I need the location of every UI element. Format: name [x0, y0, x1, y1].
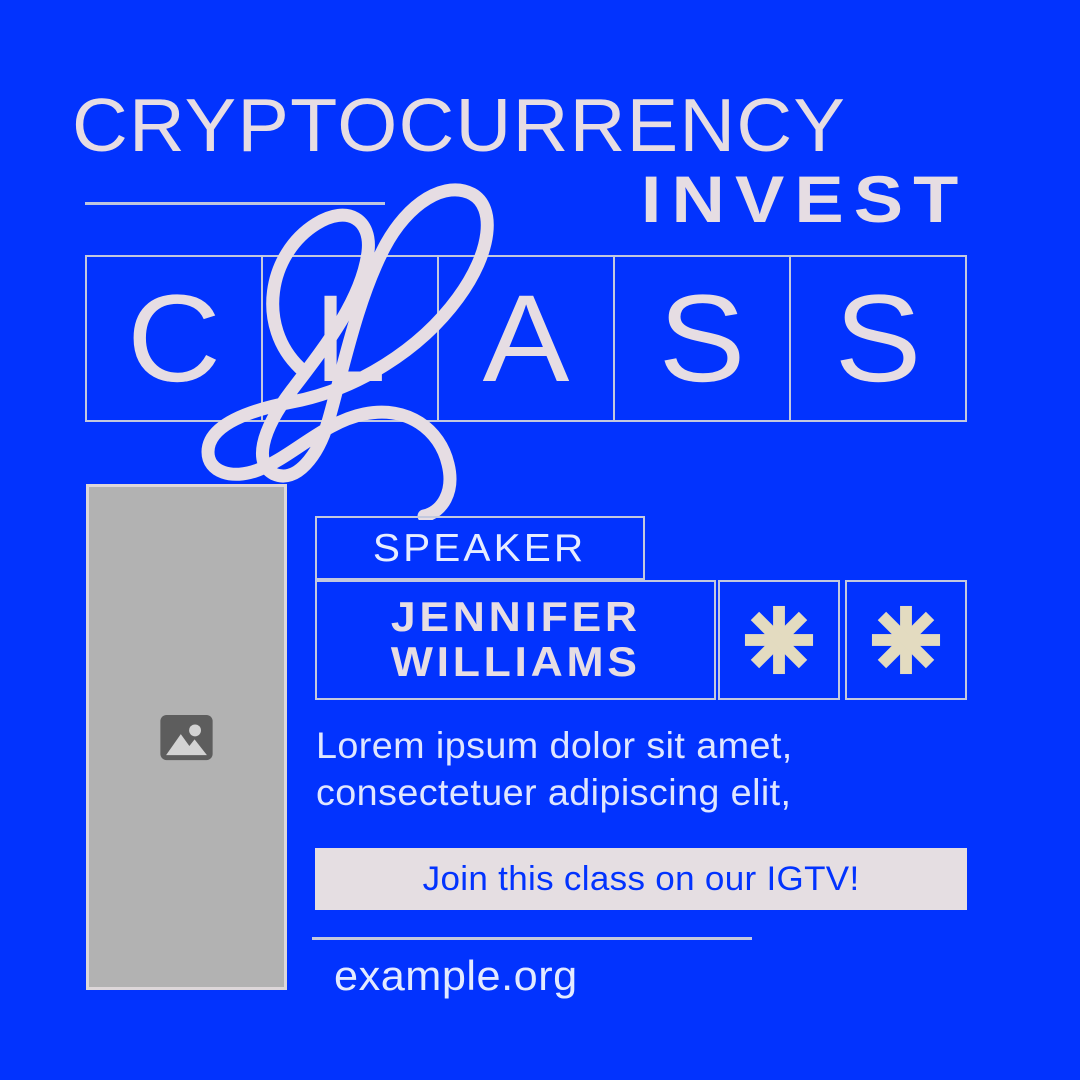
class-cell-2: L: [263, 257, 439, 420]
speaker-label-box: SPEAKER: [315, 516, 645, 580]
description-text: Lorem ipsum dolor sit amet, consectetuer…: [316, 722, 989, 817]
class-cell-5: S: [791, 257, 965, 420]
class-cell-3: A: [439, 257, 615, 420]
page-title: CRYPTOCURRENCY: [72, 88, 1011, 163]
decor-star-box-1: [718, 580, 840, 700]
cta-banner[interactable]: Join this class on our IGTV!: [315, 848, 967, 910]
image-placeholder[interactable]: [86, 484, 287, 990]
description-line-2: consectetuer adipiscing elit,: [316, 769, 989, 816]
speaker-name-line2: WILLIAMS: [391, 640, 641, 685]
speaker-name-box: JENNIFER WILLIAMS: [315, 580, 716, 700]
headline-invest: INVEST: [641, 166, 968, 232]
cta-label: Join this class on our IGTV!: [423, 862, 860, 896]
decor-star-box-2: [845, 580, 967, 700]
speaker-label: SPEAKER: [373, 529, 586, 568]
speaker-name-line1: JENNIFER: [391, 595, 641, 640]
class-cell-1: C: [87, 257, 263, 420]
class-letter-1: C: [83, 277, 266, 401]
asterisk-star-icon: [742, 603, 816, 677]
class-letter-4: S: [611, 277, 794, 401]
footer-divider-rule: [312, 937, 752, 940]
class-cell-4: S: [615, 257, 791, 420]
class-letter-5: S: [787, 277, 970, 401]
class-letter-2: L: [259, 277, 442, 401]
website-url[interactable]: example.org: [334, 953, 578, 999]
class-letter-3: A: [435, 277, 618, 401]
class-letter-grid: C L A S S: [85, 255, 967, 422]
description-line-1: Lorem ipsum dolor sit amet,: [316, 722, 989, 769]
asterisk-star-icon: [869, 603, 943, 677]
title-divider-rule: [85, 202, 385, 205]
image-icon: [158, 709, 215, 766]
poster-canvas: CRYPTOCURRENCY INVEST C L A S S: [0, 0, 1080, 1080]
